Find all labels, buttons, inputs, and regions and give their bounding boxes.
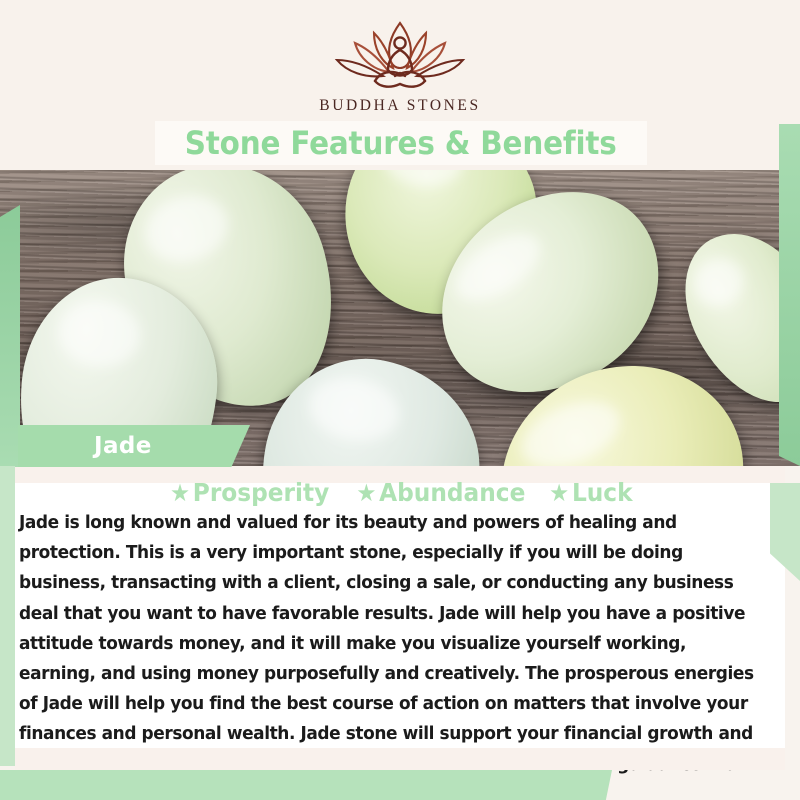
brand-name: BUDDHA STONES bbox=[0, 97, 800, 115]
decor-bottom-bar bbox=[0, 770, 612, 800]
content-panel: ★Prosperity ★Abundance ★Luck Jade is lon… bbox=[15, 466, 785, 770]
content-bottom-strip bbox=[15, 748, 785, 770]
benefit-item: ★Abundance bbox=[356, 478, 525, 507]
star-icon: ★ bbox=[549, 479, 569, 507]
stone-name-label: Jade bbox=[94, 433, 152, 459]
page-title: Stone Features & Benefits bbox=[155, 121, 647, 165]
stone-info-card: BUDDHA STONES Stone Features & Benefits … bbox=[0, 0, 800, 800]
page-title-text: Stone Features & Benefits bbox=[185, 124, 617, 162]
stone-photo bbox=[0, 170, 800, 466]
benefit-item: ★Luck bbox=[549, 478, 632, 507]
benefit-label: Abundance bbox=[379, 478, 525, 507]
decor-left-top-bar bbox=[0, 205, 20, 467]
star-icon: ★ bbox=[170, 479, 190, 507]
benefits-row: ★Prosperity ★Abundance ★Luck bbox=[15, 478, 785, 507]
benefit-label: Prosperity bbox=[193, 478, 329, 507]
decor-left-body-bar bbox=[0, 466, 15, 766]
star-icon: ★ bbox=[356, 479, 376, 507]
brand-logo: BUDDHA STONES bbox=[0, 18, 800, 115]
lotus-meditation-icon bbox=[325, 18, 475, 92]
benefit-item: ★Prosperity bbox=[170, 478, 329, 507]
stone-name-banner: Jade bbox=[18, 425, 250, 467]
decor-right-top-bar bbox=[779, 124, 800, 466]
benefit-label: Luck bbox=[572, 478, 633, 507]
